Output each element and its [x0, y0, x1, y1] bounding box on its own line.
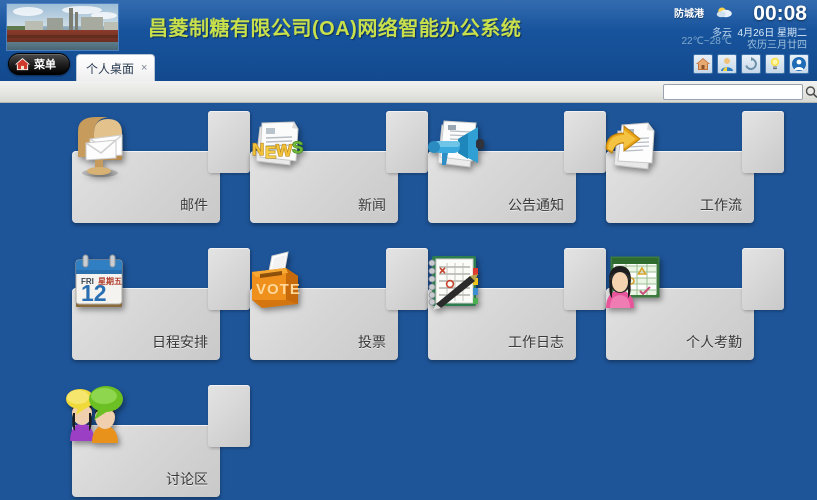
tile-label: 公告通知 [508, 195, 564, 215]
tab-label: 个人桌面 [86, 60, 134, 77]
tile-label: 工作日志 [508, 332, 564, 352]
calendar-icon: FRI 星期五 12 [64, 246, 136, 318]
tile-notch [742, 111, 784, 173]
tile-label: 新闻 [358, 195, 386, 215]
company-photo-logo [6, 3, 119, 51]
notebook-icon [420, 246, 492, 318]
megaphone-icon [420, 109, 492, 181]
vote-icon-text: VOTE [256, 281, 301, 298]
tile-notch [208, 385, 250, 447]
desktop-area: 邮件 N E [0, 103, 817, 500]
tile-label: 工作流 [700, 195, 742, 215]
menu-button-label: 菜单 [34, 56, 56, 72]
vote-icon: VOTE [242, 246, 314, 318]
menu-button[interactable]: 菜单 [8, 53, 70, 75]
weather-city: 防城港 [674, 5, 704, 20]
tile-worklog[interactable]: 工作日志 [428, 288, 576, 360]
close-icon[interactable]: × [141, 63, 147, 74]
tile-vote[interactable]: VOTE 投票 [250, 288, 398, 360]
tab-personal-desktop[interactable]: 个人桌面 × [76, 54, 155, 81]
search-box[interactable] [663, 84, 803, 100]
tile-attendance[interactable]: 个人考勤 [606, 288, 754, 360]
tile-label: 日程安排 [152, 332, 208, 352]
tile-discussion[interactable]: 讨论区 [72, 425, 220, 497]
clock-time: 00:08 [739, 2, 807, 26]
page-title: 昌菱制糖有限公司(OA)网络智能办公系统 [148, 12, 521, 41]
menu-tab-bar: 菜单 个人桌面 × [0, 50, 817, 81]
svg-text:N: N [252, 140, 264, 159]
tile-label: 讨论区 [166, 469, 208, 489]
news-icon: N E W S [242, 109, 314, 181]
tile-label: 投票 [358, 332, 386, 352]
tile-announcement[interactable]: 公告通知 [428, 151, 576, 223]
calendar-day: 12 [81, 280, 107, 306]
svg-text:E: E [265, 143, 276, 162]
home-red-icon [14, 57, 31, 72]
weather-temperature: 22℃~28℃ [664, 36, 732, 47]
oa-desktop-window: 昌菱制糖有限公司(OA)网络智能办公系统 防城港 00:08 多云 4月26日 … [0, 0, 817, 500]
tile-schedule[interactable]: FRI 星期五 12 日程安排 [72, 288, 220, 360]
svg-text:W: W [276, 141, 293, 160]
search-icon[interactable] [804, 85, 817, 99]
tile-news[interactable]: N E W S 新闻 [250, 151, 398, 223]
cloudy-icon [716, 5, 734, 17]
page-header: 昌菱制糖有限公司(OA)网络智能办公系统 防城港 00:08 多云 4月26日 … [0, 0, 817, 81]
tile-label: 邮件 [180, 195, 208, 215]
mailbox-icon [64, 109, 136, 181]
discussion-icon [64, 383, 136, 455]
tile-workflow[interactable]: 工作流 [606, 151, 754, 223]
tile-notch [742, 248, 784, 310]
weather-widget: 防城港 00:08 多云 4月26日 星期二 22℃~28℃ 农历三月廿四 [664, 2, 809, 48]
lunar-date: 农历三月廿四 [733, 36, 807, 51]
svg-text:S: S [292, 138, 303, 157]
toolbar-strip [0, 81, 817, 103]
attendance-icon [598, 246, 670, 318]
search-input[interactable] [664, 85, 804, 99]
tile-mail[interactable]: 邮件 [72, 151, 220, 223]
tile-label: 个人考勤 [686, 332, 742, 352]
workflow-icon [598, 109, 670, 181]
